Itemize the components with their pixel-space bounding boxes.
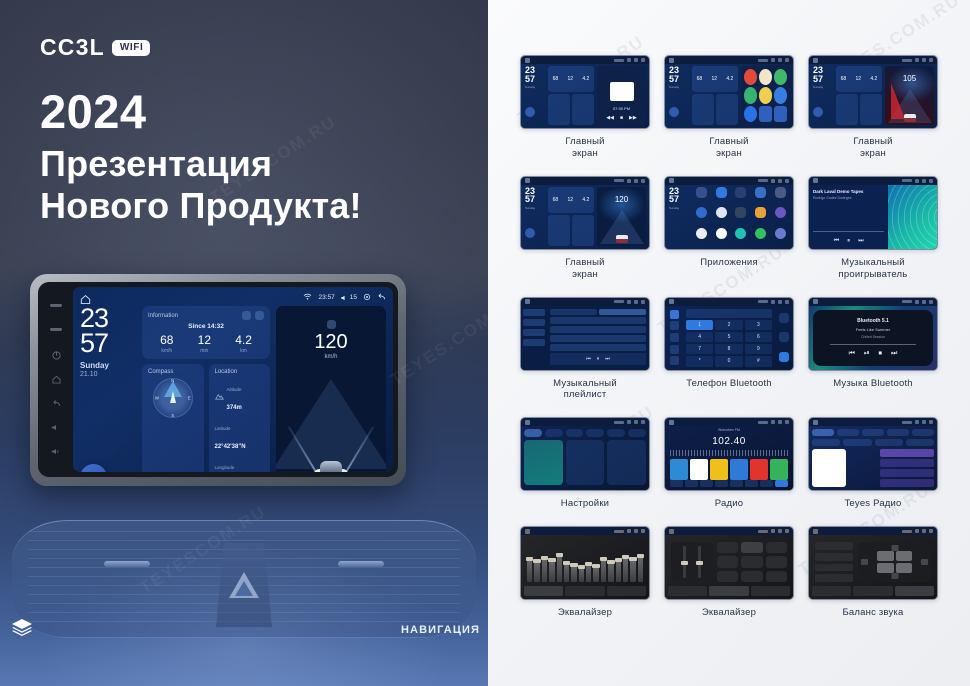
mini-location (572, 94, 594, 125)
head-unit-housing: 23:57 15 (38, 282, 398, 477)
mini-media-card: 07:30 PM ◀◀■▶▶ (597, 66, 646, 125)
play-pause-icon: ⏯ (864, 350, 870, 358)
mini-driving-card: 120 (597, 187, 646, 246)
footer-label: НАВИГАЦИЯ (401, 624, 480, 636)
gallery-item[interactable]: Bluetooth 5.1 Feels Like Summer Chilled … (805, 297, 941, 402)
headline-line-1: Презентация (40, 143, 362, 185)
app-icon (759, 87, 772, 103)
location-longitude-row: Longitude 114°4'23"E (215, 456, 265, 472)
mini-playlist-sidebar[interactable] (521, 306, 547, 370)
compass-e: E (188, 396, 191, 401)
app-icon (696, 187, 707, 198)
app-icon (696, 228, 707, 239)
gallery-item[interactable]: 123 456 789 *0# Телефон Bluetooth (661, 297, 797, 402)
gallery-item[interactable]: 2357Sunday 68124.2 120 Главныйэкран (517, 176, 653, 281)
mini-music-screen: Dark Laval Demo Tapes Rodrigo Gudez Dode… (809, 185, 937, 249)
mini-bt-music-screen: Bluetooth 5.1 Feels Like Summer Chilled … (809, 306, 937, 370)
mini-album-art (812, 449, 846, 487)
mini-status-bar (665, 527, 793, 535)
call-icon (779, 352, 789, 362)
mini-info-card: 68124.2 (548, 66, 594, 92)
location-card[interactable]: Location Altitude 374m (209, 364, 271, 472)
mini-location (572, 215, 594, 246)
mini-eq2-body (668, 538, 790, 586)
gallery-caption: Главныйэкран (565, 136, 604, 160)
mini-settings-cards[interactable] (524, 440, 646, 485)
mini-settings-screen (521, 426, 649, 490)
mini-dialer-actions[interactable] (775, 306, 793, 370)
mini-compass (692, 94, 714, 125)
information-card[interactable]: Information Since 14:32 (142, 306, 270, 359)
mini-radio-presets[interactable] (668, 459, 790, 480)
widget-column: Information Since 14:32 (142, 306, 270, 472)
mini-widgets: 68124.2 (836, 66, 882, 125)
mini-widgets: 68124.2 (548, 187, 594, 246)
mini-bt-artist: Chilled Session (861, 335, 885, 339)
next-key-icon[interactable] (50, 326, 62, 336)
brand-model: CC3L (40, 36, 105, 59)
speed-value: 120 (276, 332, 386, 352)
status-bar-right: 23:57 15 (303, 293, 386, 303)
gallery-caption: Главныйэкран (709, 136, 748, 160)
mini-clock: 2357Sunday (813, 66, 833, 125)
preset (730, 459, 748, 480)
latitude-value: 22°42'38"N (215, 444, 246, 450)
home-screen-body: 23 57 Sunday 21.10 (80, 306, 386, 472)
mini-track-row (550, 317, 646, 324)
mini-teyes-body (812, 449, 934, 487)
speed-readout: 120 km/h (276, 320, 386, 360)
clock-minutes: 57 (80, 331, 136, 356)
stat-unit: min (198, 348, 211, 354)
thumbnail-apps[interactable]: 2357Sunday (664, 176, 794, 250)
thumbnail-radio[interactable]: Shenzhen FM 102.40 (664, 417, 794, 491)
stat-item: 4.2 km (235, 334, 252, 354)
gallery-caption: Настройки (561, 498, 609, 510)
volume-down-key-icon[interactable] (50, 423, 62, 433)
gallery-item[interactable]: Dark Laval Demo Tapes Rodrigo Gudez Dode… (805, 176, 941, 281)
clock-widget[interactable]: 23 57 Sunday 21.10 (80, 306, 136, 472)
mini-info-card: 68124.2 (548, 187, 594, 213)
gallery-item[interactable]: 2357Sunday 68124.2 07:30 PM ◀◀■▶▶ Главны… (517, 55, 653, 160)
compass-w: W (155, 396, 159, 401)
app-icon (755, 207, 766, 218)
prev-icon: ⏮ (586, 356, 591, 362)
next-icon: ⏭ (891, 350, 897, 358)
power-key-icon[interactable] (50, 350, 62, 360)
mini-track-row (550, 335, 646, 342)
information-since: Since 14:32 (148, 323, 264, 330)
compass-dial: N S W E (153, 378, 193, 418)
mini-teyes-filters[interactable] (812, 439, 934, 446)
mini-track-row (550, 344, 646, 351)
back-key-icon[interactable] (50, 399, 62, 409)
longitude-label: Longitude (215, 465, 235, 470)
mini-balance-pad[interactable] (858, 542, 931, 582)
app-icon (759, 106, 772, 122)
thumbnail-settings[interactable] (520, 417, 650, 491)
mini-status-bar (665, 56, 793, 64)
mini-radio-frequency: 102.40 (668, 436, 790, 447)
driving-view-card[interactable]: 120 km/h (276, 306, 386, 472)
mini-car (616, 235, 628, 243)
mini-dialer-keys: 123 456 789 *0# (683, 306, 775, 370)
mini-eq-tabs[interactable] (524, 586, 646, 596)
balance-up-button (891, 545, 898, 551)
headline-year: 2024 (40, 86, 362, 139)
head-unit-screen[interactable]: 23:57 15 (73, 287, 393, 472)
air-vent-panel (12, 520, 476, 638)
information-card-header: Information (148, 311, 264, 320)
mini-nav-fab (669, 107, 679, 117)
gallery-caption: Приложения (700, 257, 758, 269)
information-stats: 68 km/h 12 min 4.2 (148, 334, 264, 354)
mini-settings-tabs[interactable] (524, 429, 646, 437)
mini-music-info: Dark Laval Demo Tapes Rodrigo Gudez Dode… (809, 185, 888, 249)
mini-speed-value: 120 (597, 195, 646, 204)
mini-speaker-quad (877, 551, 912, 573)
gallery-item[interactable]: Эквалайзер (661, 526, 797, 619)
mini-wifi-card (524, 440, 563, 485)
mini-location (716, 94, 738, 125)
app-icon (775, 207, 786, 218)
car-3d-model (314, 461, 348, 472)
gallery-item[interactable]: Эквалайзер (517, 526, 653, 619)
hardware-key-column[interactable] (43, 287, 69, 472)
stat-unit: km/h (160, 348, 173, 354)
mini-status-bar (809, 56, 937, 64)
mini-home-screen: 2357Sunday 68124.2 07:30 PM ◀◀■▶▶ (521, 64, 649, 128)
mini-track-title: Dark Laval Demo Tapes (813, 189, 884, 194)
mini-carplay-card (566, 440, 605, 485)
thumbnail-music-playlist[interactable]: ⏮⏸⏭ (520, 297, 650, 371)
mini-app-shortcuts (741, 66, 790, 125)
mini-station-info (849, 449, 877, 487)
compass-card[interactable]: Compass N S W E (142, 364, 204, 472)
mini-widget-row (548, 215, 594, 246)
mini-info-card: 68124.2 (692, 66, 738, 92)
app-icon (716, 207, 727, 218)
mini-apps-grid (689, 187, 789, 247)
mini-media-time: 07:30 PM (597, 106, 646, 111)
mini-bt-progress[interactable] (830, 344, 916, 345)
mini-eq-tabs[interactable] (812, 586, 934, 596)
mini-status-bar (521, 56, 649, 64)
mini-compass (548, 94, 570, 125)
gallery-caption: Телефон Bluetooth (686, 378, 772, 390)
gallery-caption: Эквалайзер (702, 607, 756, 619)
mini-car (904, 114, 916, 122)
refresh-icon[interactable] (242, 311, 251, 320)
backspace-icon (779, 332, 789, 342)
mini-keypad[interactable]: 123 456 789 *0# (686, 320, 772, 367)
compass-s: S (171, 413, 174, 418)
mini-balance-body (812, 538, 934, 586)
mini-playlist-tabs[interactable] (550, 309, 646, 315)
mini-home-screen: 2357Sunday 68124.2 105 (809, 64, 937, 128)
altitude-label: Altitude (227, 387, 242, 392)
clock-day: Sunday (80, 361, 136, 370)
app-icon (716, 228, 727, 239)
mini-eq2-presets[interactable] (717, 542, 787, 582)
mountain-icon (215, 387, 224, 405)
app-icon (774, 69, 787, 85)
gallery-caption: Музыкальныйпроигрыватель (839, 257, 908, 281)
history-icon[interactable] (255, 311, 264, 320)
mini-location (860, 94, 882, 125)
mini-status-bar (809, 527, 937, 535)
mini-widgets: 68124.2 (548, 66, 594, 125)
hazard-light-button[interactable] (216, 543, 272, 627)
location-latitude-row: Latitude 22°42'38"N (215, 417, 265, 453)
app-icon (759, 69, 772, 85)
status-time: 23:57 (318, 294, 334, 301)
brand-wifi-badge: WIFI (112, 40, 151, 56)
thumbnail-home-media[interactable]: 2357Sunday 68124.2 07:30 PM ◀◀■▶▶ (520, 55, 650, 129)
status-bar: 23:57 15 (80, 292, 386, 303)
thumbnail-home-speed[interactable]: 2357Sunday 68124.2 120 (520, 176, 650, 250)
gallery-caption: Баланс звука (843, 607, 904, 619)
next-icon: ⏭ (858, 238, 863, 245)
status-volume[interactable]: 15 (341, 294, 357, 301)
mini-home-screen: 2357Sunday 68124.2 120 (521, 185, 649, 249)
preset (750, 459, 768, 480)
mini-status-bar (521, 177, 649, 185)
gallery-item[interactable]: 2357Sunday 68124.2 105 Главныйэк (805, 55, 941, 160)
mini-home-screen: 2357Sunday 68124.2 (665, 64, 793, 128)
app-icon (744, 106, 757, 122)
mini-equalizer-screen (521, 535, 649, 599)
mini-red-warning (891, 83, 905, 119)
information-title: Information (148, 313, 178, 319)
app-icon (774, 87, 787, 103)
gallery-caption: Главныйэкран (853, 136, 892, 160)
prev-icon: ⏮ (849, 350, 855, 358)
mini-track-row (550, 326, 646, 333)
stat-item: 12 min (198, 334, 211, 354)
app-icon (744, 69, 757, 85)
location-altitude-row: Altitude 374m (215, 378, 265, 414)
mini-status-bar (665, 177, 793, 185)
mini-equalizer-grid-screen (665, 535, 793, 599)
app-icon (744, 87, 757, 103)
location-title: Location (215, 369, 265, 375)
headline-line-2: Нового Продукта! (40, 185, 362, 227)
mini-station-list[interactable] (880, 449, 934, 487)
prev-icon: ⏮ (834, 238, 839, 245)
compass-needle (170, 391, 176, 403)
thumbnail-home-apps[interactable]: 2357Sunday 68124.2 (664, 55, 794, 129)
app-icon (716, 187, 727, 198)
stat-value: 68 (160, 334, 173, 346)
home-icon[interactable] (80, 292, 91, 303)
thumbnail-music-player[interactable]: Dark Laval Demo Tapes Rodrigo Gudez Dode… (808, 176, 938, 250)
gallery-caption: Радио (715, 498, 743, 510)
thumbnail-bt-phone[interactable]: 123 456 789 *0# (664, 297, 794, 371)
app-icon (774, 106, 787, 122)
mini-status-bar (809, 418, 937, 426)
gallery-item[interactable]: 2357Sunday Приложения (661, 176, 797, 281)
thumbnail-sound-balance[interactable] (808, 526, 938, 600)
thumbnail-bt-music[interactable]: Bluetooth 5.1 Feels Like Summer Chilled … (808, 297, 938, 371)
mini-radio-band: Shenzhen FM (668, 428, 790, 432)
balance-left-button (861, 559, 868, 565)
mini-bt-controls[interactable]: ⏮⏯⏹⏭ (849, 350, 898, 358)
mini-status-bar (665, 418, 793, 426)
thumbnail-equalizer-bars[interactable] (520, 526, 650, 600)
altitude-value: 374m (227, 405, 242, 411)
mini-progress-bar[interactable] (813, 231, 884, 232)
next-icon: ⏭ (605, 356, 610, 362)
vent-knob-left[interactable] (104, 561, 150, 567)
gallery-caption: Музыка Bluetooth (833, 378, 913, 390)
mini-clock: 2357Sunday (525, 66, 545, 125)
mini-bt-title: Bluetooth 5.1 (857, 318, 889, 324)
app-icon (755, 187, 766, 198)
stat-unit: km (235, 348, 252, 354)
hazard-triangle-icon (229, 572, 259, 598)
balance-down-button (891, 573, 898, 579)
screens-gallery: TEYESCOM.RU TEYES.COM.RU TEYESCOM.RU TEY… (488, 0, 970, 686)
app-icon (735, 228, 746, 239)
pause-icon: ⏸ (847, 238, 850, 245)
thumbnail-teyes-radio[interactable] (808, 417, 938, 491)
mini-playlist-main: ⏮⏸⏭ (547, 306, 649, 370)
mini-status-bar (809, 177, 937, 185)
thumbnail-equalizer-grid[interactable] (664, 526, 794, 600)
road-projection (276, 379, 386, 469)
wifi-icon (303, 293, 312, 302)
car-roof (320, 461, 342, 472)
mini-clock: 2357Sunday (669, 187, 689, 247)
mini-eq-tabs[interactable] (668, 586, 790, 596)
hero-panel: CC3L WIFI 2024 Презентация Нового Продук… (0, 0, 488, 686)
gallery-item[interactable]: Баланс звука (805, 526, 941, 619)
preset (770, 459, 788, 480)
prev-key-icon[interactable] (50, 302, 62, 312)
app-icon (775, 187, 786, 198)
mini-eq2-sliders[interactable] (671, 542, 713, 582)
mini-widget-row (548, 94, 594, 125)
brand-logo: CC3L WIFI (40, 36, 150, 59)
mini-status-bar (665, 298, 793, 306)
app-icon (735, 187, 746, 198)
mini-dialer-screen: 123 456 789 *0# (665, 306, 793, 370)
mini-widget-row (836, 94, 882, 125)
gallery-item[interactable]: Teyes Радио (805, 417, 941, 510)
star-icon (779, 313, 789, 323)
mini-media-controls: ◀◀■▶▶ (597, 115, 646, 121)
information-card-actions[interactable] (242, 311, 264, 320)
mini-compass (548, 215, 570, 246)
layers-icon (10, 616, 34, 640)
balance-right-button (921, 559, 928, 565)
mini-speed-value: 105 (885, 74, 934, 83)
back-icon[interactable] (377, 293, 386, 303)
mini-widgets: 68124.2 (692, 66, 738, 125)
mini-teyes-radio-screen (809, 426, 937, 490)
vent-knob-right[interactable] (338, 561, 384, 567)
mini-playlist-screen: ⏮⏸⏭ (521, 306, 649, 370)
mini-nav-fab (525, 107, 535, 117)
gallery-grid: 2357Sunday 68124.2 07:30 PM ◀◀■▶▶ Главны… (488, 55, 970, 619)
mini-radio-screen: Shenzhen FM 102.40 (665, 426, 793, 490)
mini-apps-screen: 2357Sunday (665, 185, 793, 249)
mini-status-bar (809, 298, 937, 306)
mini-playlist-player[interactable]: ⏮⏸⏭ (550, 353, 646, 365)
mini-dialer-sidebar[interactable] (665, 306, 683, 370)
gear-icon[interactable] (363, 293, 371, 303)
app-icon (755, 228, 766, 239)
car-dashboard: 23:57 15 (0, 266, 488, 686)
latitude-label: Latitude (215, 426, 231, 431)
mini-eq-sliders[interactable] (524, 538, 646, 586)
gallery-caption: Музыкальныйплейлист (553, 378, 617, 402)
clock-date: 21.10 (80, 371, 136, 378)
mini-album-art (610, 82, 634, 101)
gallery-caption: Главныйэкран (565, 257, 604, 281)
home-key-icon[interactable] (50, 374, 62, 384)
compass-n: N (171, 378, 174, 383)
gallery-item[interactable]: Shenzhen FM 102.40 Радио (661, 417, 797, 510)
mini-clock: 2357Sunday (525, 187, 545, 246)
head-unit-bezel: 23:57 15 (30, 274, 406, 486)
mini-balance-presets[interactable] (815, 542, 853, 582)
navigation-fab-button[interactable] (80, 464, 107, 472)
app-icon (696, 207, 707, 218)
speed-icon (327, 320, 336, 329)
mini-nav-fab (813, 107, 823, 117)
preset (670, 459, 688, 480)
stat-value: 4.2 (235, 334, 252, 346)
app-icon (775, 228, 786, 239)
mini-clock: 2357Sunday (669, 66, 689, 125)
mini-widget-row (692, 94, 738, 125)
page-title: 2024 Презентация Нового Продукта! (40, 86, 362, 227)
mini-status-bar (521, 527, 649, 535)
widget-row: Compass N S W E (142, 364, 270, 472)
thumbnail-home-speed-red[interactable]: 2357Sunday 68124.2 105 (808, 55, 938, 129)
mini-number-field[interactable] (686, 309, 772, 318)
app-icon (735, 207, 746, 218)
volume-up-key-icon[interactable] (50, 447, 62, 457)
preset (690, 459, 708, 480)
mini-nav-fab (525, 228, 535, 238)
mini-track-artist: Rodrigo Gudez Dodeges (813, 196, 884, 200)
pause-icon: ⏸ (597, 356, 600, 362)
gallery-caption: Teyes Радио (844, 498, 901, 510)
mini-balance-screen (809, 535, 937, 599)
mini-bt-track: Feels Like Summer (856, 327, 890, 332)
mini-status-bar (521, 298, 649, 306)
stat-value: 12 (198, 334, 211, 346)
mini-status-bar (521, 418, 649, 426)
mini-compass (836, 94, 858, 125)
mini-info-card: 68124.2 (836, 66, 882, 92)
gallery-item[interactable]: 2357Sunday 68124.2 Главныйэкран (661, 55, 797, 160)
preset (710, 459, 728, 480)
gallery-item[interactable]: ⏮⏸⏭ Музыкальныйплейлист (517, 297, 653, 402)
speed-unit: km/h (276, 354, 386, 360)
mini-driving-card: 105 (885, 66, 934, 125)
mini-teyes-tabs[interactable] (812, 429, 934, 436)
mini-radio-toolbar[interactable] (668, 480, 790, 488)
stop-icon: ⏹ (879, 350, 883, 358)
mini-visualizer (888, 185, 937, 249)
mini-radio-scale[interactable] (670, 450, 788, 456)
mini-music-controls[interactable]: ⏮⏸⏭ (813, 238, 884, 245)
gallery-item[interactable]: Настройки (517, 417, 653, 510)
